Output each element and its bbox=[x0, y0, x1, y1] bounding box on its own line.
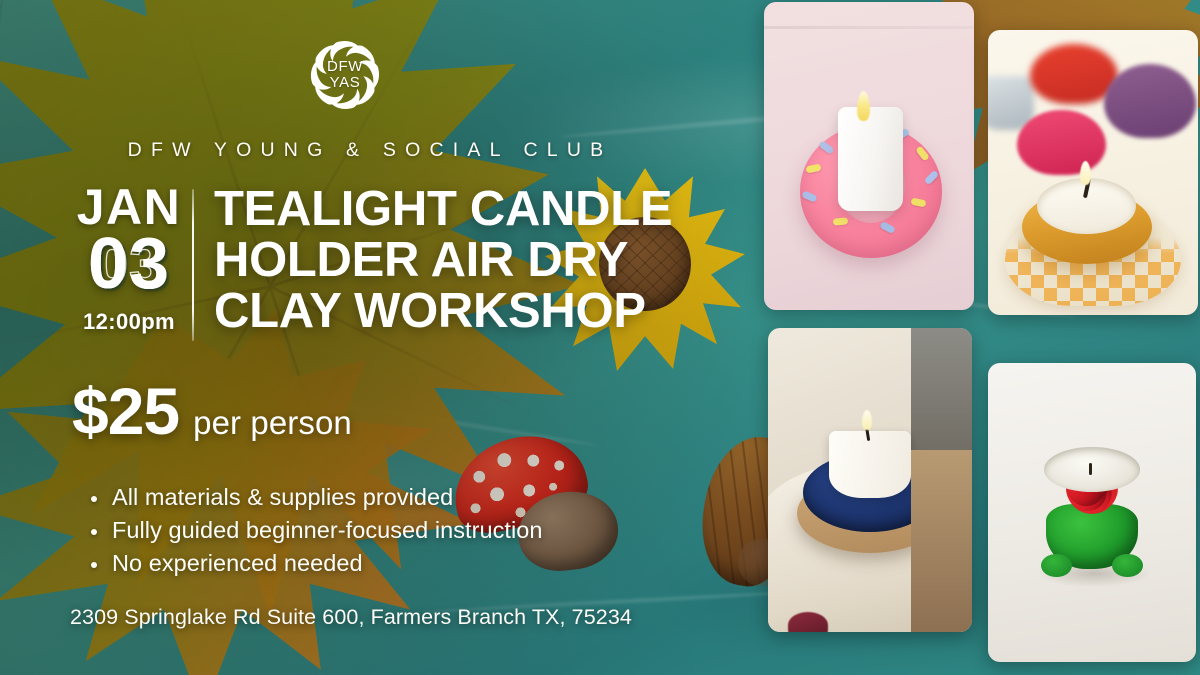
candle-flame bbox=[862, 410, 872, 430]
donut-photo-scene bbox=[764, 2, 974, 310]
logo-wordmark: DFW YAS bbox=[302, 32, 388, 118]
dfw-yas-logo: DFW YAS bbox=[302, 32, 388, 118]
logo-line-2: YAS bbox=[330, 75, 361, 91]
event-title: TEALIGHT CANDLE HOLDER AIR DRY CLAY WORK… bbox=[214, 184, 672, 338]
event-day: 03 03 bbox=[70, 229, 188, 300]
logo-line-1: DFW bbox=[327, 59, 363, 75]
date-and-title-row: JAN 03 03 12:00pm TEALIGHT CANDLE HOLDER… bbox=[70, 183, 672, 341]
event-title-line-1: TEALIGHT CANDLE bbox=[214, 184, 672, 235]
event-title-line-2: HOLDER AIR DRY bbox=[214, 235, 672, 286]
venue-address: 2309 Springlake Rd Suite 600, Farmers Br… bbox=[70, 605, 632, 630]
price-amount: $25 bbox=[72, 378, 179, 444]
event-flyer: DFW YAS DFW YOUNG & SOCIAL CLUB JAN 03 0… bbox=[0, 0, 1200, 675]
blue-photo-scene bbox=[768, 328, 972, 632]
event-date-block: JAN 03 03 12:00pm bbox=[70, 183, 188, 335]
features-list: All materials & supplies provided Fully … bbox=[88, 481, 543, 580]
painted-fingernail bbox=[788, 612, 828, 632]
photo-macaron-tealight-holder bbox=[988, 30, 1198, 315]
list-item: Fully guided beginner-focused instructio… bbox=[88, 514, 543, 547]
tealight-candle bbox=[829, 431, 911, 498]
sprinkle bbox=[833, 217, 849, 226]
price-unit: per person bbox=[193, 404, 352, 442]
vertical-divider bbox=[192, 189, 194, 341]
list-item: No experienced needed bbox=[88, 547, 543, 580]
macaron-pink bbox=[1017, 110, 1105, 176]
photo-red-flower-tealight-holder bbox=[988, 363, 1196, 662]
event-time: 12:00pm bbox=[70, 309, 188, 335]
macaron-purple bbox=[1104, 64, 1196, 138]
tealight-candle bbox=[1044, 447, 1140, 492]
macaron-photo-scene bbox=[988, 30, 1198, 315]
tealight-candle bbox=[838, 107, 903, 212]
photo-donut-tealight-holder bbox=[764, 2, 974, 310]
gold-clay-holder bbox=[1022, 190, 1152, 264]
event-day-value: 03 bbox=[88, 224, 170, 304]
photo-blue-tealight-holder bbox=[768, 328, 972, 632]
event-title-line-3: CLAY WORKSHOP bbox=[214, 286, 672, 337]
candle-flame bbox=[857, 91, 870, 121]
flower-photo-scene bbox=[988, 363, 1196, 662]
price-row: $25 per person bbox=[72, 378, 352, 444]
list-item: All materials & supplies provided bbox=[88, 481, 543, 514]
